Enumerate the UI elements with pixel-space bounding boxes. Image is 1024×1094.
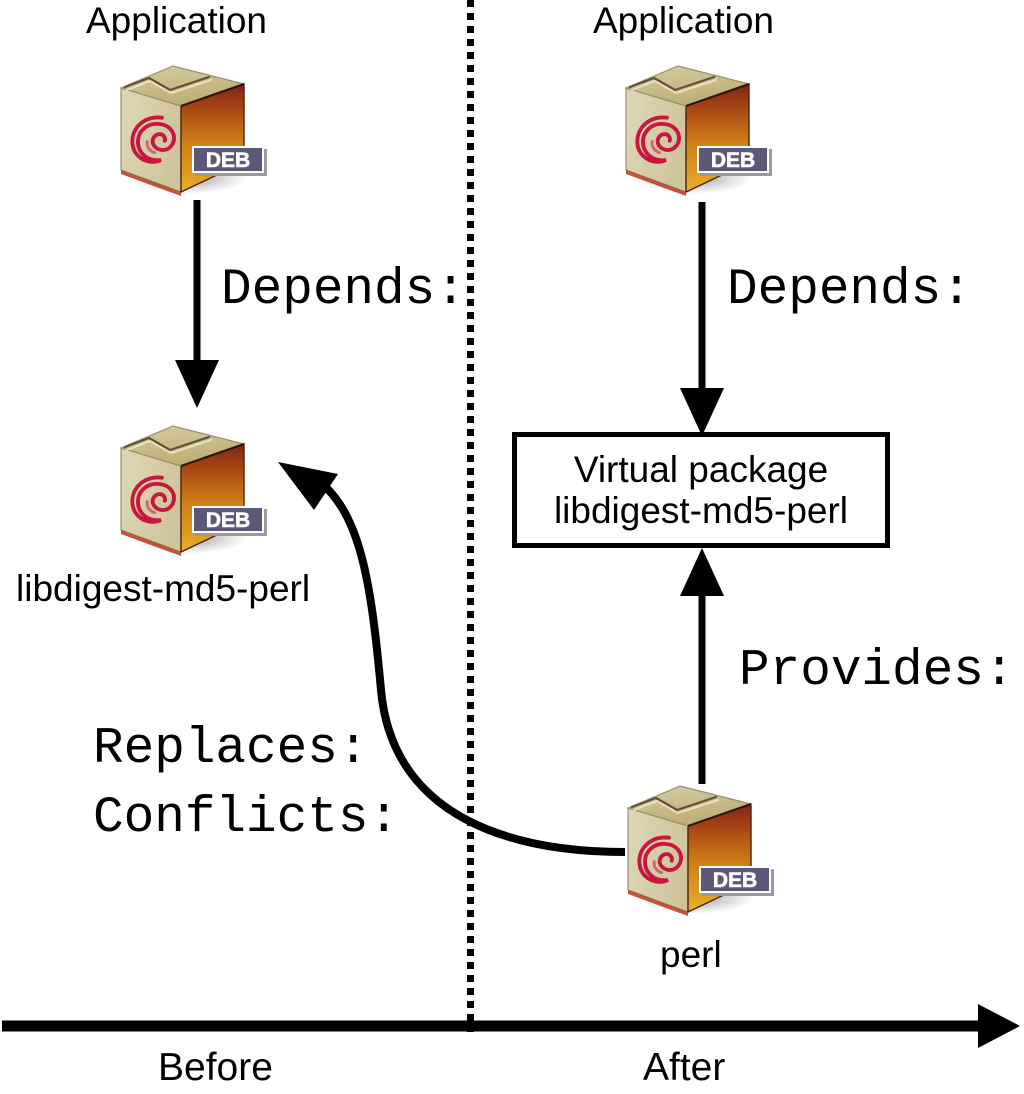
deb-badge-libdigest-before: DEB	[192, 506, 268, 537]
depends-arrow-after	[673, 202, 733, 438]
virtual-package-line1: Virtual package	[574, 449, 828, 490]
deb-badge-application-after: DEB	[697, 146, 773, 177]
deb-badge-application-before: DEB	[192, 146, 268, 177]
depends-arrow-before	[168, 200, 228, 410]
virtual-package-box: Virtual package libdigest-md5-perl	[512, 432, 890, 548]
svg-text:DEB: DEB	[713, 869, 757, 892]
diagram-canvas: Application DEB Depends: DEB libdigest-m…	[0, 0, 1024, 1094]
timeline-label-after: After	[643, 1046, 725, 1090]
page-title-after: Application	[593, 2, 774, 41]
deb-package-icon-libdigest-before	[113, 412, 265, 564]
svg-text:DEB: DEB	[206, 149, 250, 172]
deb-package-icon-application-after	[618, 52, 770, 204]
deb-package-icon-application-before	[113, 52, 265, 204]
deb-badge-perl: DEB	[699, 866, 775, 897]
page-title-before: Application	[86, 2, 267, 41]
timeline-axis	[0, 1000, 1024, 1052]
virtual-package-line2: libdigest-md5-perl	[554, 490, 848, 531]
node-label-perl: perl	[660, 936, 722, 975]
edge-label-provides: Provides:	[739, 646, 1014, 697]
edge-label-depends-before: Depends:	[221, 265, 466, 316]
deb-package-icon-perl	[620, 772, 772, 924]
svg-text:DEB: DEB	[206, 509, 250, 532]
provides-arrow	[673, 546, 733, 784]
timeline-label-before: Before	[158, 1046, 273, 1090]
svg-text:DEB: DEB	[711, 149, 755, 172]
edge-label-depends-after: Depends:	[727, 265, 972, 316]
